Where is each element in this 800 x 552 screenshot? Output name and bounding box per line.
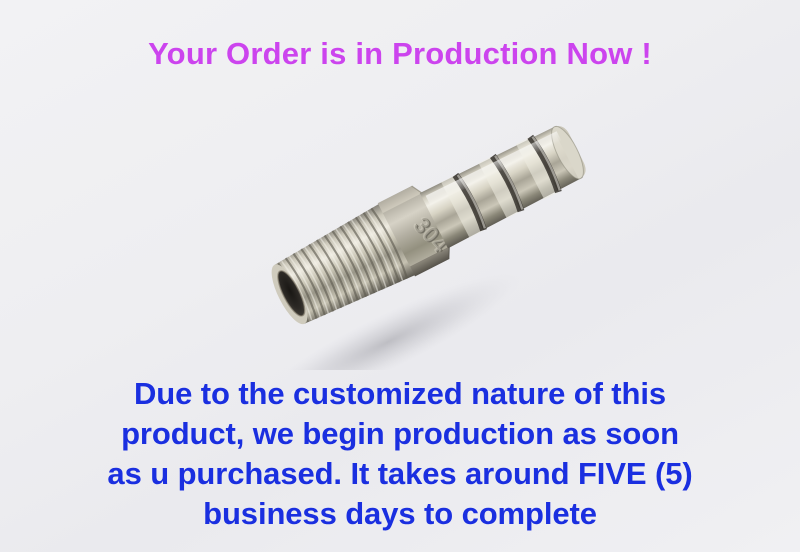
notice-line-4: business days to complete (0, 494, 800, 534)
notice-line-1: Due to the customized nature of this (0, 374, 800, 414)
notice-line-3: as u purchased. It takes around FIVE (5) (0, 454, 800, 494)
barbed-end (420, 120, 591, 248)
production-notice: Due to the customized nature of this pro… (0, 374, 800, 534)
promo-image: Your Order is in Production Now ! (0, 0, 800, 552)
hose-barb-fitting-illustration: 304 304 (0, 120, 800, 370)
product-photo: 304 304 (0, 120, 800, 370)
notice-line-2: product, we begin production as soon (0, 414, 800, 454)
page-title: Your Order is in Production Now ! (0, 36, 800, 72)
